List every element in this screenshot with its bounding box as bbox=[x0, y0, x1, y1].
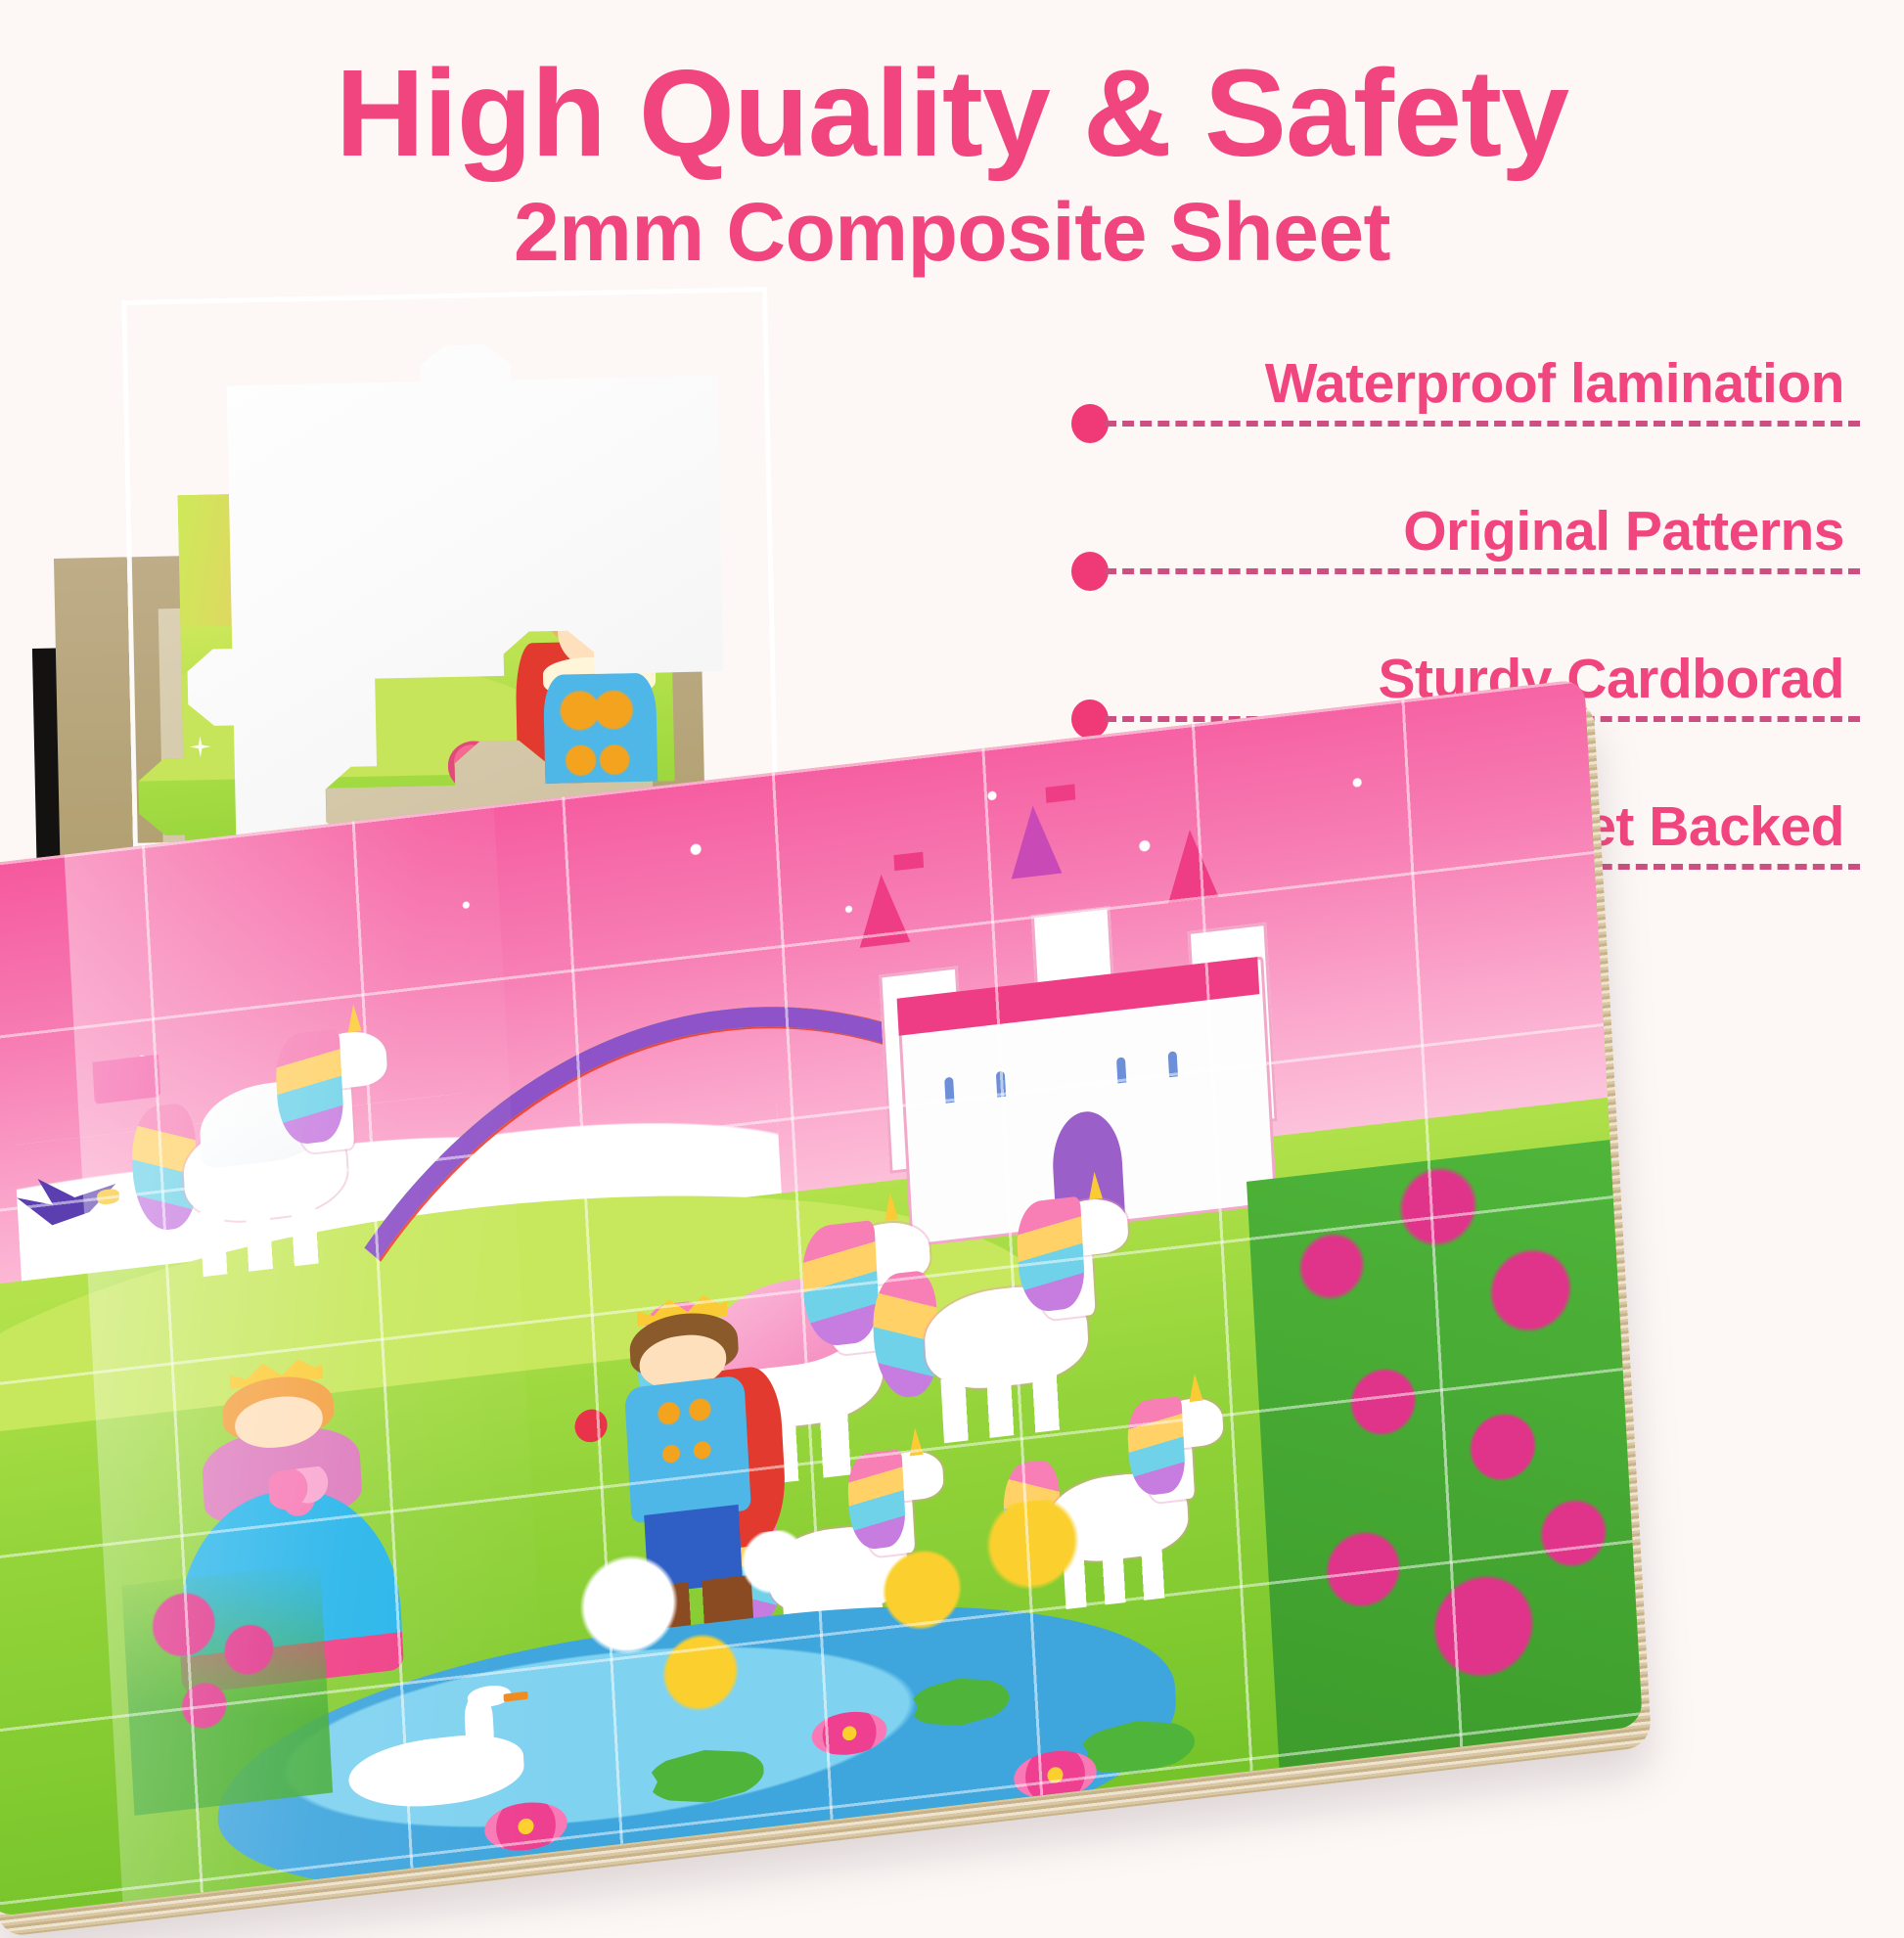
unicorn-horn-icon bbox=[1088, 1170, 1103, 1199]
castle-icon bbox=[844, 778, 1297, 1246]
castle-window bbox=[1168, 1051, 1178, 1077]
lamination-rim bbox=[121, 287, 779, 848]
feature-item-original-patterns: Original Patterns bbox=[1071, 471, 1874, 618]
unicorn-horn-icon bbox=[884, 1192, 898, 1221]
castle-window bbox=[1116, 1057, 1126, 1083]
page-title: High Quality & Safety bbox=[0, 51, 1904, 177]
page-subtitle: 2mm Composite Sheet bbox=[0, 189, 1904, 275]
feature-label: Original Patterns bbox=[1403, 499, 1844, 563]
rose-bush bbox=[1247, 1140, 1643, 1768]
castle-flag-icon bbox=[893, 852, 924, 871]
infographic-canvas: High Quality & Safety 2mm Composite Shee… bbox=[0, 0, 1904, 1904]
prince-coat-buttons bbox=[624, 1375, 752, 1523]
board-surface bbox=[0, 679, 1643, 1917]
board-gloss-highlight bbox=[65, 805, 553, 1902]
carnation-icon bbox=[568, 1405, 614, 1456]
castle-roof bbox=[855, 871, 910, 947]
header: High Quality & Safety 2mm Composite Shee… bbox=[0, 51, 1904, 275]
unicorn-horn-icon bbox=[1188, 1374, 1202, 1403]
bullet-dot-icon bbox=[1071, 699, 1109, 739]
castle-roof bbox=[1164, 827, 1219, 903]
feature-dashed-line bbox=[1105, 421, 1860, 427]
castle-flag-icon bbox=[1045, 785, 1075, 803]
castle-roof bbox=[1008, 803, 1063, 879]
bullet-dot-icon bbox=[1071, 552, 1109, 591]
bullet-dot-icon bbox=[1071, 404, 1109, 443]
feature-dashed-line bbox=[1105, 568, 1860, 574]
product-board bbox=[0, 679, 1643, 1917]
layer-lamination bbox=[121, 287, 779, 848]
feature-item-waterproof-lamination: Waterproof lamination bbox=[1071, 323, 1874, 471]
unicorn-horn-icon bbox=[908, 1427, 923, 1457]
feature-label: Waterproof lamination bbox=[1265, 351, 1844, 416]
castle-window bbox=[945, 1076, 955, 1103]
